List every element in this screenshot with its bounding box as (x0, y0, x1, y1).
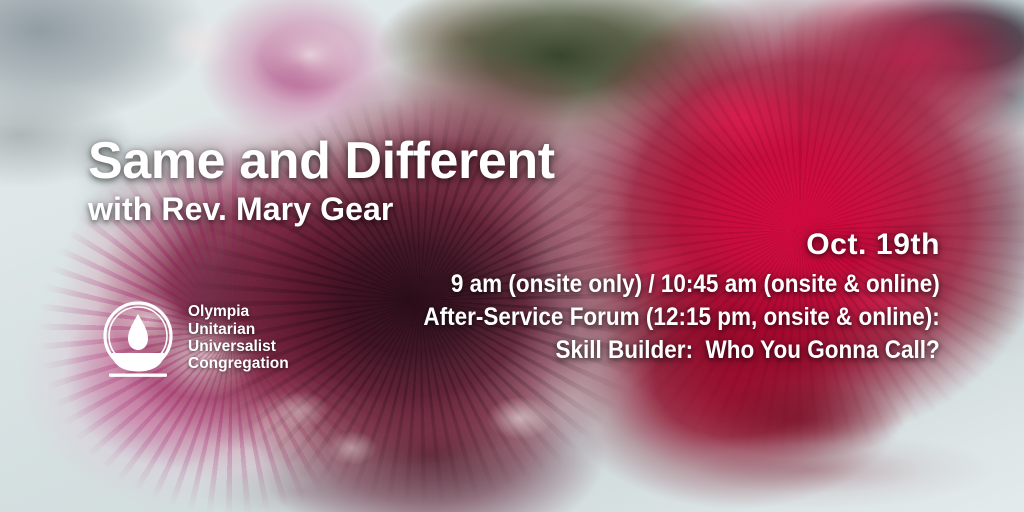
flaming-chalice-icon (96, 296, 180, 380)
service-details: Oct. 19th 9 am (onsite only) / 10:45 am … (366, 228, 940, 367)
after-service-forum-line: After-Service Forum (12:15 pm, onsite & … (424, 301, 940, 334)
congregation-logo: Olympia Unitarian Universalist Congregat… (96, 296, 289, 380)
page-title: Same and Different (88, 131, 555, 191)
forum-topic-line: Skill Builder: Who You Gonna Call? (424, 334, 940, 367)
service-times-line: 9 am (onsite only) / 10:45 am (onsite & … (424, 268, 940, 301)
speaker-subtitle: with Rev. Mary Gear (88, 191, 393, 228)
event-poster: Same and Different with Rev. Mary Gear O… (0, 0, 1024, 512)
congregation-name: Olympia Unitarian Universalist Congregat… (188, 303, 289, 373)
event-date: Oct. 19th (366, 228, 940, 262)
